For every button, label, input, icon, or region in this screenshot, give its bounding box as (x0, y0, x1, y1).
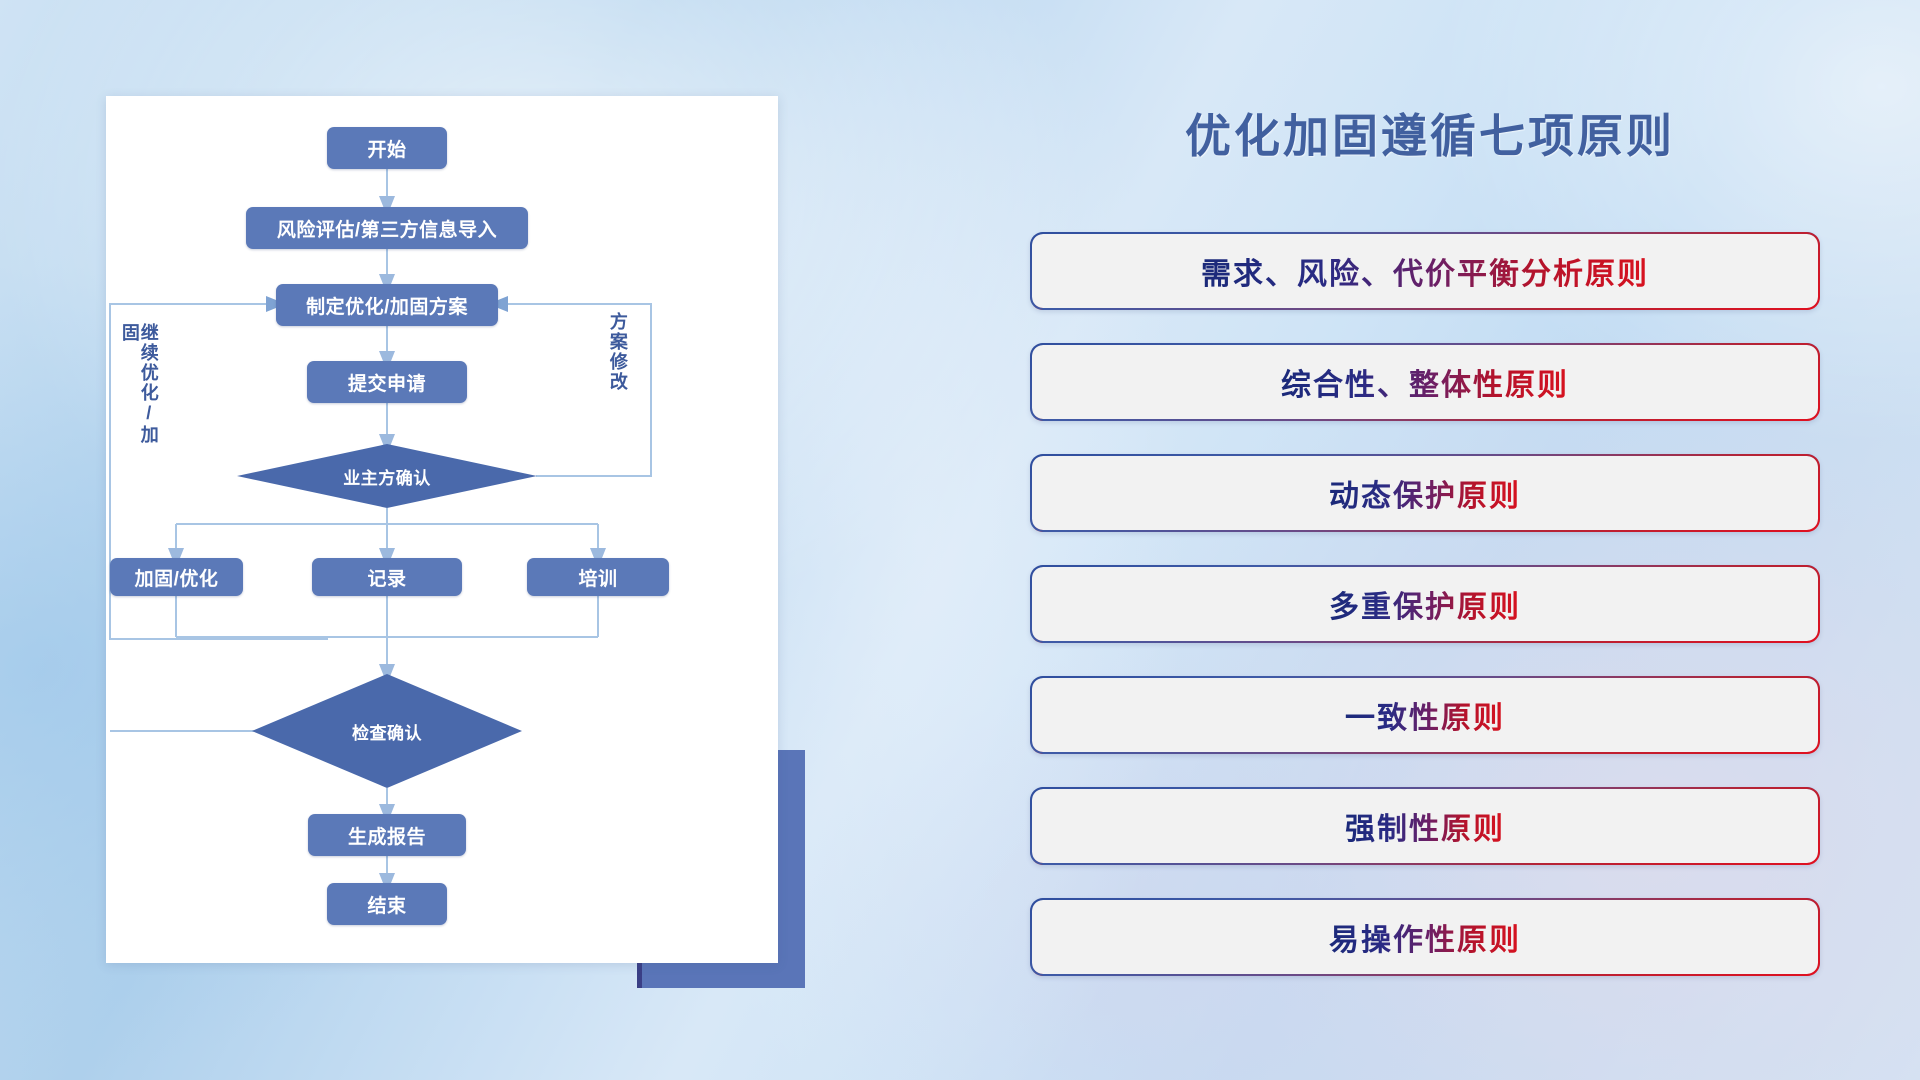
flow-edge-label-plan-revision: 方案修改 (608, 312, 627, 412)
flow-node-risk-assessment[interactable]: 风险评估/第三方信息导入 (246, 207, 528, 249)
page-title: 优化加固遵循七项原则 (1030, 100, 1830, 166)
principle-card-1[interactable]: 需求、风险、代价平衡分析原则 (1030, 232, 1820, 310)
flow-node-submit[interactable]: 提交申请 (307, 361, 467, 403)
principle-card-2[interactable]: 综合性、整体性原则 (1030, 343, 1820, 421)
flow-node-reinforce-label: 加固/优化 (135, 564, 219, 591)
principle-card-5[interactable]: 一致性原则 (1030, 676, 1820, 754)
flow-node-training[interactable]: 培训 (527, 558, 669, 596)
flow-node-record-label: 记录 (367, 564, 406, 591)
flow-node-end[interactable]: 结束 (327, 883, 447, 925)
flow-node-submit-label: 提交申请 (348, 369, 426, 396)
flow-node-start[interactable]: 开始 (327, 127, 447, 169)
flow-node-plan-label: 制定优化/加固方案 (306, 292, 468, 319)
flow-node-risk-assessment-label: 风险评估/第三方信息导入 (277, 215, 497, 242)
flow-node-owner-confirm[interactable]: 业主方确认 (237, 444, 537, 508)
flowchart-diagram: 开始 风险评估/第三方信息导入 制定优化/加固方案 提交申请 业主方确认 加固/… (106, 96, 778, 963)
flow-node-start-label: 开始 (367, 135, 406, 162)
principle-card-6-label: 强制性原则 (1345, 804, 1505, 848)
flow-node-training-label: 培训 (578, 564, 617, 591)
principle-card-3[interactable]: 动态保护原则 (1030, 454, 1820, 532)
flowchart-card: 开始 风险评估/第三方信息导入 制定优化/加固方案 提交申请 业主方确认 加固/… (106, 96, 778, 963)
flow-node-reinforce[interactable]: 加固/优化 (110, 558, 243, 596)
flow-node-record[interactable]: 记录 (312, 558, 462, 596)
principle-card-5-label: 一致性原则 (1345, 693, 1505, 737)
flow-node-owner-confirm-label: 业主方确认 (343, 464, 431, 489)
principles-list: 需求、风险、代价平衡分析原则 综合性、整体性原则 动态保护原则 多重保护原则 一… (1030, 232, 1820, 1009)
principle-card-4-label: 多重保护原则 (1329, 582, 1521, 626)
principle-card-3-label: 动态保护原则 (1329, 471, 1521, 515)
flow-node-end-label: 结束 (367, 891, 406, 918)
flow-node-inspection[interactable]: 检查确认 (252, 674, 522, 788)
flow-node-inspection-label: 检查确认 (352, 719, 422, 744)
principle-card-2-label: 综合性、整体性原则 (1281, 360, 1569, 404)
principle-card-7[interactable]: 易操作性原则 (1030, 898, 1820, 976)
principle-card-1-label: 需求、风险、代价平衡分析原则 (1201, 249, 1649, 293)
slide-canvas: 开始 风险评估/第三方信息导入 制定优化/加固方案 提交申请 业主方确认 加固/… (0, 0, 1920, 1080)
principle-card-4[interactable]: 多重保护原则 (1030, 565, 1820, 643)
flow-node-report[interactable]: 生成报告 (308, 814, 466, 856)
flow-node-plan[interactable]: 制定优化/加固方案 (276, 284, 498, 326)
principle-card-6[interactable]: 强制性原则 (1030, 787, 1820, 865)
flow-node-report-label: 生成报告 (348, 822, 426, 849)
flow-edge-label-continue-optimize: 继续优化/加固 (120, 323, 158, 451)
principle-card-7-label: 易操作性原则 (1329, 915, 1521, 959)
